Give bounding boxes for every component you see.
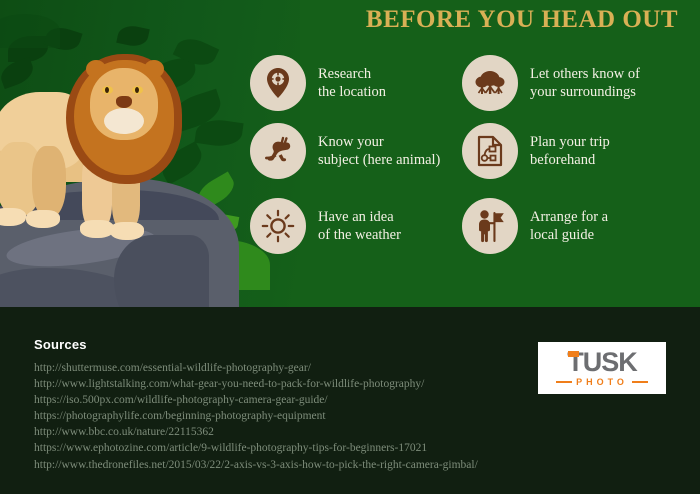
source-link[interactable]: http://www.lightstalking.com/what-gear-y… — [34, 376, 554, 392]
logo-secondary-row: PHOTO — [556, 377, 648, 387]
lion-paw — [0, 208, 26, 226]
lion-nose — [116, 96, 132, 108]
tip-item-research-location[interactable]: Research the location — [250, 55, 386, 111]
logo-rule-right — [632, 381, 648, 383]
lion-paw — [80, 220, 114, 238]
infographic-page: BEFORE YOU HEAD OUT Rese — [0, 0, 700, 494]
lion-paw — [110, 222, 144, 240]
source-link[interactable]: https://iso.500px.com/wildlife-photograp… — [34, 392, 554, 408]
tip-line-2: beforehand — [530, 151, 610, 169]
tip-line-1: Plan your trip — [530, 133, 610, 151]
tip-line-2: local guide — [530, 226, 608, 244]
lion-ear — [144, 60, 164, 78]
logo-rule-left — [556, 381, 572, 383]
lion-eye — [102, 86, 113, 94]
sources-heading: Sources — [34, 337, 87, 352]
tip-item-weather[interactable]: Have an idea of the weather — [250, 198, 401, 254]
trees-icon — [473, 68, 507, 98]
logo-primary-text: TUSK — [567, 349, 637, 376]
sources-list: http://shuttermuse.com/essential-wildlif… — [34, 360, 554, 473]
map-pin-target-icon — [263, 67, 293, 99]
tip-line-1: Research — [318, 65, 386, 83]
icon-badge — [250, 198, 306, 254]
source-link[interactable]: http://www.bbc.co.uk/nature/22115362 — [34, 424, 554, 440]
lion-eye — [132, 86, 143, 94]
logo-orange-accent — [568, 351, 579, 357]
source-link[interactable]: http://www.thedronefiles.net/2015/03/22/… — [34, 457, 554, 473]
tip-line-2: subject (here animal) — [318, 151, 440, 169]
tip-line-2: the location — [318, 83, 386, 101]
tip-item-plan-trip[interactable]: Plan your trip beforehand — [462, 123, 610, 179]
lion-muzzle — [104, 108, 144, 134]
lion-hind-leg — [32, 146, 66, 218]
icon-badge — [250, 123, 306, 179]
lion-paw — [26, 210, 60, 228]
icon-badge — [250, 55, 306, 111]
tip-text: Plan your trip beforehand — [530, 133, 610, 169]
person-flag-icon — [474, 209, 506, 243]
tip-line-2: of the weather — [318, 226, 401, 244]
tip-item-local-guide[interactable]: Arrange for a local guide — [462, 198, 608, 254]
icon-badge — [462, 123, 518, 179]
tip-text: Have an idea of the weather — [318, 208, 401, 244]
page-title: BEFORE YOU HEAD OUT — [366, 6, 678, 34]
source-link[interactable]: http://shuttermuse.com/essential-wildlif… — [34, 360, 554, 376]
tip-text: Arrange for a local guide — [530, 208, 608, 244]
kangaroo-icon — [261, 135, 295, 167]
tip-text: Let others know of your surroundings — [530, 65, 640, 101]
tip-item-know-subject[interactable]: Know your subject (here animal) — [250, 123, 440, 179]
icon-badge — [462, 55, 518, 111]
tip-line-1: Have an idea — [318, 208, 401, 226]
tip-line-2: your surroundings — [530, 83, 640, 101]
tip-line-1: Know your — [318, 133, 440, 151]
icon-badge — [462, 198, 518, 254]
source-link[interactable]: https://photographylife.com/beginning-ph… — [34, 408, 554, 424]
source-link[interactable]: https://www.ephotozine.com/article/9-wil… — [34, 440, 554, 456]
tip-line-1: Arrange for a — [530, 208, 608, 226]
hero-panel: BEFORE YOU HEAD OUT Rese — [0, 0, 700, 307]
tip-line-1: Let others know of — [530, 65, 640, 83]
tips-grid: Research the location — [250, 55, 695, 270]
sun-icon — [261, 209, 295, 243]
logo-secondary-label: PHOTO — [576, 377, 628, 387]
tip-text: Know your subject (here animal) — [318, 133, 440, 169]
tip-item-let-others-know[interactable]: Let others know of your surroundings — [462, 55, 640, 111]
rock-shadow — [114, 235, 209, 307]
tip-text: Research the location — [318, 65, 386, 101]
plan-document-icon — [475, 134, 505, 168]
tusk-photo-logo[interactable]: TUSK PHOTO — [538, 342, 666, 394]
lion-illustration — [0, 30, 234, 307]
